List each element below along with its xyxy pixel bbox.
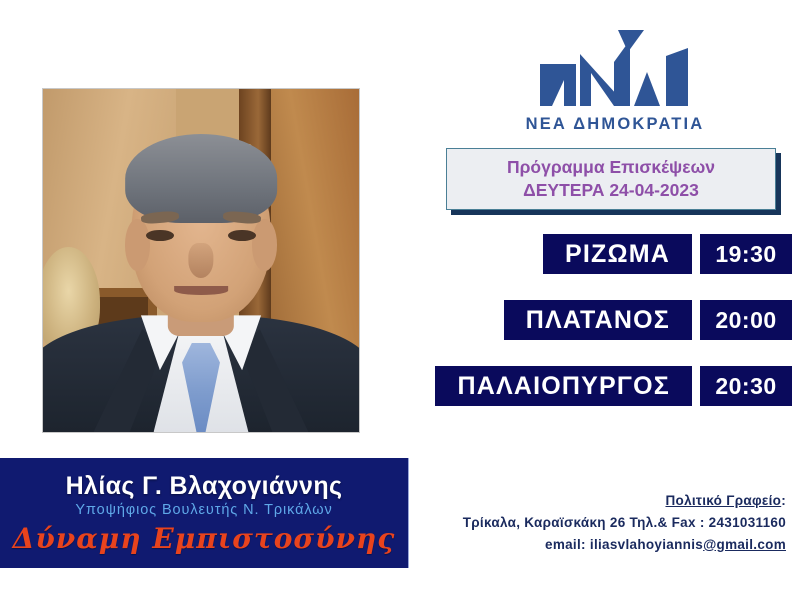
program-banner: Πρόγραμμα Επισκέψεων ΔΕΥΤΕΡΑ 24-04-2023	[446, 148, 776, 210]
schedule-time: 20:30	[700, 366, 792, 406]
nea-dimokratia-monogram-icon	[530, 28, 700, 110]
poster-canvas: Ηλίας Γ. Βλαχογιάννης Υποψήφιος Βουλευτή…	[0, 0, 800, 600]
office-address: Τρίκαλα, Καραϊσκάκη 26 Τηλ.& Fax : 24310…	[416, 512, 786, 534]
office-email-line: email: iliasvlahoyiannis@gmail.com	[416, 534, 786, 556]
schedule-row: ΠΛΑΤΑΝΟΣ 20:00	[0, 300, 800, 340]
schedule-place: ΠΛΑΤΑΝΟΣ	[504, 300, 692, 340]
candidate-name: Ηλίας Γ. Βλαχογιάννης	[66, 472, 343, 501]
schedule-time: 19:30	[700, 234, 792, 274]
contact-block: Πολιτικό Γραφείο: Τρίκαλα, Καραϊσκάκη 26…	[416, 490, 786, 556]
photo-mouth	[174, 286, 228, 295]
candidate-role: Υποψήφιος Βουλευτής Ν. Τρικάλων	[75, 502, 332, 518]
schedule-place: ΡΙΖΩΜΑ	[543, 234, 692, 274]
email-label: email:	[545, 537, 586, 552]
photo-hair	[125, 134, 277, 223]
program-date: ΔΕΥΤΕΡΑ 24-04-2023	[523, 179, 699, 202]
office-colon: :	[781, 493, 786, 508]
campaign-slogan: Δύναμη Εμπιστοσύνης	[13, 522, 396, 555]
party-logo: ΝΕΑ ΔΗΜΟΚΡΑΤΙΑ	[520, 28, 710, 138]
schedule-time: 20:00	[700, 300, 792, 340]
email-user: iliasvlahoyiannis	[590, 537, 703, 552]
email-domain[interactable]: @gmail.com	[703, 537, 786, 552]
party-wordmark: ΝΕΑ ΔΗΜΟΚΡΑΤΙΑ	[526, 115, 705, 134]
office-label: Πολιτικό Γραφείο	[665, 493, 781, 508]
schedule-place: ΠΑΛΑΙΟΠΥΡΓΟΣ	[435, 366, 692, 406]
program-title: Πρόγραμμα Επισκέψεων	[507, 156, 715, 179]
schedule-row: ΠΑΛΑΙΟΠΥΡΓΟΣ 20:30	[0, 366, 800, 406]
schedule-row: ΡΙΖΩΜΑ 19:30	[0, 234, 800, 274]
office-line: Πολιτικό Γραφείο:	[416, 490, 786, 512]
candidate-name-banner: Ηλίας Γ. Βλαχογιάννης Υποψήφιος Βουλευτή…	[0, 458, 409, 568]
